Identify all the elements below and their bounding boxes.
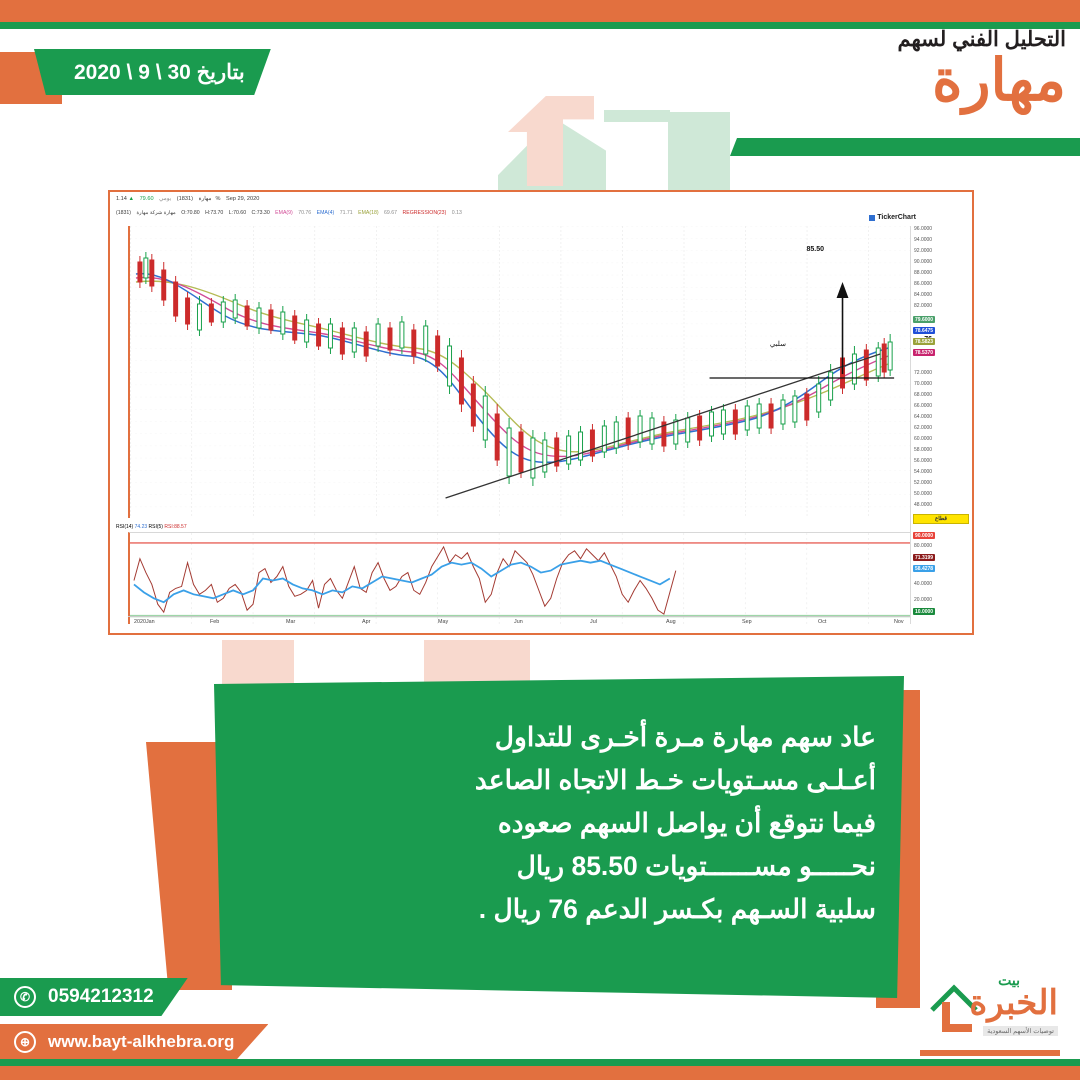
chart-period: يومي: [159, 196, 171, 202]
tickerchart-label: TickerChart: [877, 214, 916, 221]
x-axis-label: Feb: [210, 619, 219, 625]
indicator-ema9-label: EMA(9): [275, 210, 293, 216]
indicator-regression-value: 0.13: [452, 210, 462, 216]
indicator-regression-label: REGRESSION(23): [402, 210, 446, 216]
chart-low: L:70.60: [229, 210, 246, 216]
whatsapp-number: 0594212312: [48, 986, 154, 1008]
message-line: فيما نتوقع أن يواصل السهم صعوده: [244, 802, 876, 845]
rsi-plot-area[interactable]: [128, 532, 910, 624]
rsi14-label: RSI(14): [116, 524, 133, 530]
axis-tick: 64.0000: [914, 414, 932, 420]
axis-tick: 96.0000: [914, 226, 932, 232]
axis-tick: 60.0000: [914, 436, 932, 442]
date-badge: بتاريخ 30 \ 9 \ 2020: [34, 49, 271, 95]
axis-tick: 48.0000: [914, 502, 932, 508]
chart-symbol-code: (1831): [177, 196, 193, 202]
axis-tick: 52.0000: [914, 480, 932, 486]
message-line: أعـلـى مسـتويات خـط الاتجاه الصاعد: [244, 759, 876, 802]
x-axis-label: Nov: [894, 619, 904, 625]
axis-tick: 66.0000: [914, 403, 932, 409]
rsi-chip-90: 90.0000: [913, 532, 935, 539]
message-line: نحـــــو مســــــتويات 85.50 ريال: [244, 845, 876, 888]
brand-underline: [920, 1050, 1060, 1056]
time-axis: 2020Jan Feb Mar Apr May Jun Jul Aug Sep …: [128, 616, 910, 630]
rsi-chip-rsi5: 71.3199: [913, 554, 935, 561]
axis-tick: 62.0000: [914, 425, 932, 431]
axis-tick: 20.0000: [914, 597, 932, 603]
x-axis-label: Apr: [362, 619, 370, 625]
indicator-ema9-value: 70.76: [298, 210, 311, 216]
axis-tick: 50.0000: [914, 491, 932, 497]
chart-ohlc-line: مهارة شركة مهارة (1831) O:70.80 H:73.70 …: [116, 210, 466, 216]
indicator-ema18-label: EMA(18): [358, 210, 378, 216]
chart-open: O:70.80: [181, 210, 199, 216]
rsi14-value: 74.23: [135, 524, 148, 530]
x-axis-label: Jul: [590, 619, 597, 625]
website-url: www.bayt-alkhebra.org: [48, 1032, 234, 1052]
axis-tick: 68.0000: [914, 392, 932, 398]
watermark-green-cap: [604, 110, 670, 122]
x-axis-label: Sep: [742, 619, 752, 625]
chart-date: Sep 29, 2020: [226, 196, 259, 202]
price-plot-area[interactable]: 85.50 76 سلبي: [128, 226, 910, 518]
indicator-ema18-value: 69.67: [384, 210, 397, 216]
chart-symbol-line: مهارة (1831) يومي 79.60 ▲ 1.14% Sep 29, …: [116, 196, 263, 202]
price-axis: 96.0000 94.0000 92.0000 90.0000 88.0000 …: [910, 226, 972, 624]
watermark-pink-arrow: [508, 96, 594, 186]
rsi-chip-10: 10.0000: [913, 608, 935, 615]
axis-tick: 84.0000: [914, 292, 932, 298]
globe-icon: ⊕: [14, 1031, 36, 1053]
bottom-orange-rule: [0, 1066, 1080, 1080]
brand-tagline: توصيات الأسهم السعودية: [983, 1026, 1058, 1036]
whatsapp-icon: ✆: [14, 986, 36, 1008]
price-chart-svg: [130, 226, 910, 518]
watermark-green-stripe: [730, 138, 1080, 156]
price-chip-ema4: 78.6475: [913, 327, 935, 334]
annotation-support-note: سلبي: [770, 340, 786, 348]
axis-tick: 54.0000: [914, 469, 932, 475]
axis-tick: 90.0000: [914, 259, 932, 265]
message-line: عاد سهم مهارة مـرة أخـرى للتداول: [244, 716, 876, 759]
axis-tick: 40.0000: [914, 581, 932, 587]
price-chip-last: 79.6000: [913, 316, 935, 323]
x-axis-label: Mar: [286, 619, 295, 625]
x-axis-label: Oct: [818, 619, 826, 625]
chart-close: C:73.30: [252, 210, 270, 216]
rsi5-label: RSI(5): [149, 524, 163, 530]
indicator-ema4-label: EMA(4): [317, 210, 335, 216]
rsi-chip-rsi14: 58.4278: [913, 565, 935, 572]
x-axis-label: 2020Jan: [134, 619, 155, 625]
header-company: مهارة: [898, 53, 1066, 108]
x-axis-label: May: [438, 619, 448, 625]
axis-tick: 86.0000: [914, 281, 932, 287]
axis-tick: 72.0000: [914, 370, 932, 376]
tickerchart-logo: TickerChart: [869, 214, 916, 221]
tickerchart-square-icon: [869, 215, 875, 221]
axis-tick: 92.0000: [914, 248, 932, 254]
sector-button[interactable]: قطاع: [913, 514, 969, 524]
bottom-green-rule: [0, 1059, 1080, 1066]
chart-high: H:73.70: [205, 210, 223, 216]
x-axis-label: Aug: [666, 619, 676, 625]
message-line: سلبية السـهم بكـسر الدعم 76 ريال .: [244, 888, 876, 931]
axis-tick: 82.0000: [914, 303, 932, 309]
whatsapp-badge[interactable]: ✆ 0594212312: [0, 978, 188, 1016]
chart-change-arrow-icon: ▲: [128, 196, 134, 202]
chart-panel[interactable]: مهارة (1831) يومي 79.60 ▲ 1.14% Sep 29, …: [108, 190, 974, 635]
page-title: التحليل الفني لسهم مهارة: [898, 28, 1066, 108]
rsi5-value: RSI:88.57: [164, 524, 186, 530]
axis-tick: 80.0000: [914, 543, 932, 549]
top-orange-rule: [0, 0, 1080, 22]
chart-last-price: 79.60: [140, 196, 154, 202]
message-text: عاد سهم مهارة مـرة أخـرى للتداول أعـلـى …: [244, 716, 876, 931]
chart-symbol-name: مهارة: [199, 196, 212, 202]
rsi-header-line: RSI(14) 74.23 RSI(5) RSI:88.57: [116, 524, 187, 530]
rsi-chart-svg: [130, 533, 910, 624]
annotation-target-price: 85.50: [806, 246, 824, 253]
axis-tick: 58.0000: [914, 447, 932, 453]
axis-tick: 94.0000: [914, 237, 932, 243]
brand-logo: بيت الخبرة توصيات الأسهم السعودية: [914, 972, 1064, 1058]
axis-tick: 56.0000: [914, 458, 932, 464]
chart-ohlc-code: (1831): [116, 210, 131, 216]
axis-tick: 70.0000: [914, 381, 932, 387]
axis-tick: 88.0000: [914, 270, 932, 276]
indicator-ema4-value: 71.71: [340, 210, 353, 216]
chart-ohlc-label: مهارة شركة مهارة: [136, 210, 175, 216]
website-badge[interactable]: ⊕ www.bayt-alkhebra.org: [0, 1024, 268, 1060]
price-chip-ema9: 78.5370: [913, 349, 935, 356]
price-chip-ema18: 78.5823: [913, 338, 935, 345]
brand-name: الخبرة: [969, 986, 1058, 1020]
x-axis-label: Jun: [514, 619, 523, 625]
